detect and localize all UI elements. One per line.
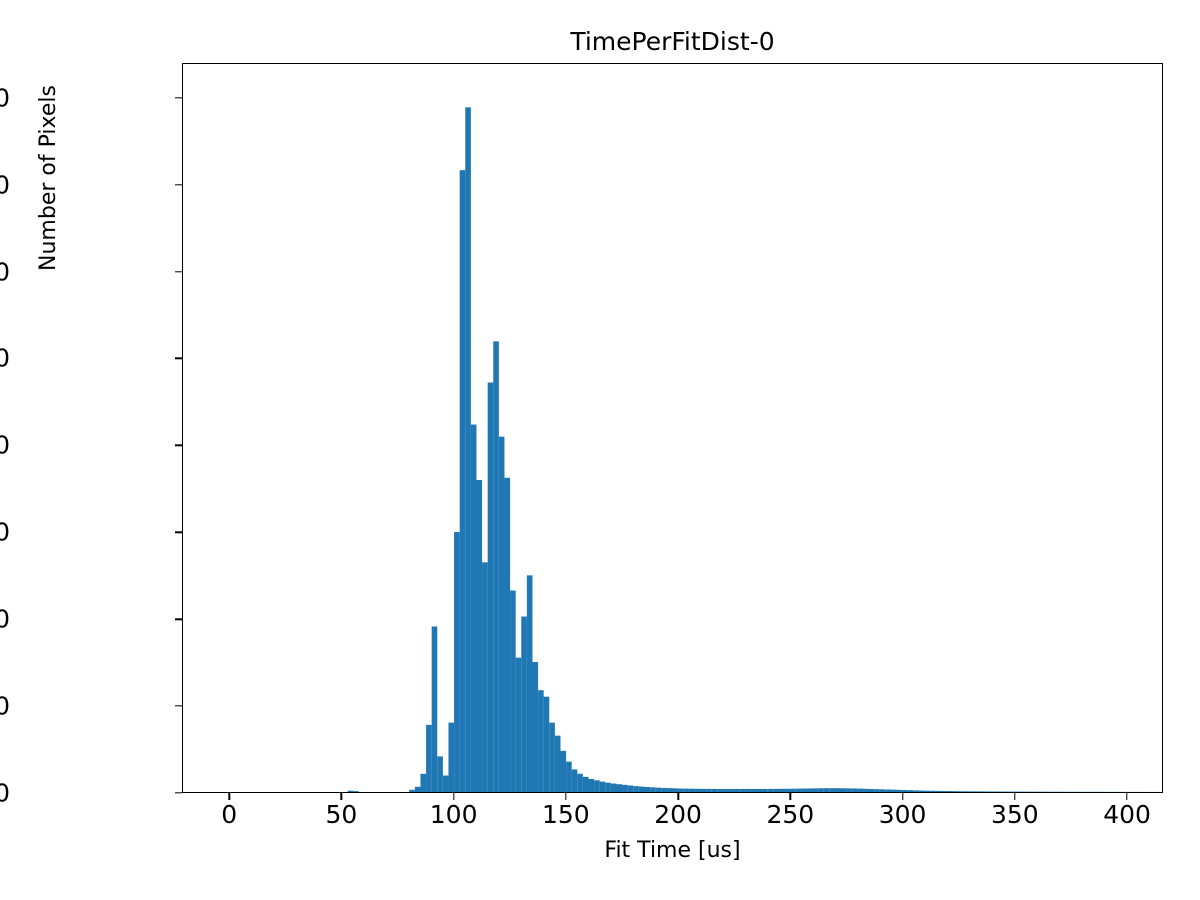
histogram-bar [762, 789, 768, 792]
x-tick-mark [1126, 793, 1127, 800]
histogram-bar [829, 788, 835, 792]
histogram-bar [869, 789, 875, 792]
x-tick-mark [1014, 793, 1015, 800]
histogram-bar [689, 789, 695, 792]
histogram-bar [891, 790, 897, 792]
histogram-bar [460, 170, 466, 792]
histogram-bar [560, 751, 566, 792]
x-tick-mark [228, 793, 229, 800]
histogram-bar [779, 789, 785, 792]
x-tick-label: 300 [879, 800, 927, 830]
y-tick-mark [175, 532, 182, 533]
histogram-bar [941, 791, 947, 792]
histogram-bar [880, 789, 886, 792]
histogram-bar [611, 784, 617, 792]
y-tick-label: 8000 [0, 433, 10, 458]
histogram-bar [673, 788, 679, 792]
histogram-bar [549, 723, 555, 792]
histogram-bar [857, 789, 863, 792]
histogram-bar [353, 791, 359, 792]
x-tick-mark [565, 793, 566, 800]
histogram-bar [925, 791, 931, 792]
histogram-bar [936, 791, 942, 792]
plot-area [182, 63, 1163, 793]
y-tick-mark [175, 184, 182, 185]
y-tick-mark [175, 705, 182, 706]
histogram-bar [824, 788, 830, 792]
histogram-bar [482, 562, 488, 792]
histogram-bar [919, 791, 925, 792]
histogram-bar [471, 425, 477, 792]
histogram-bar [846, 788, 852, 792]
histogram-bar [583, 777, 589, 792]
histogram-bar [432, 626, 438, 792]
y-tick-label: 4000 [0, 607, 10, 632]
histogram-bar [504, 478, 510, 792]
histogram-bar [712, 789, 718, 792]
histogram-bar [594, 780, 600, 792]
histogram-bar [527, 575, 533, 792]
histogram-bar [426, 725, 432, 792]
histogram-bar [969, 791, 975, 792]
histogram-bar [661, 788, 667, 792]
y-tick-label: 14000 [0, 172, 10, 197]
x-tick-label: 200 [654, 800, 702, 830]
histogram-bar [773, 789, 779, 792]
histogram-bar [729, 789, 735, 792]
histogram-bar [818, 788, 824, 792]
histogram-figure: TimePerFitDist-0 02000400060008000100001… [0, 0, 1200, 900]
histogram-bar [616, 784, 622, 792]
x-tick-mark [341, 793, 342, 800]
histogram-bar [532, 662, 538, 792]
histogram-bar [588, 779, 594, 792]
histogram-bar [600, 782, 606, 792]
histogram-bar [751, 789, 757, 792]
histogram-bar [745, 789, 751, 792]
histogram-bar [913, 790, 919, 792]
histogram-bar [723, 789, 729, 792]
histogram-bar [577, 774, 583, 792]
histogram-bar [667, 788, 673, 792]
histogram-bar [947, 791, 953, 792]
y-tick-mark [175, 618, 182, 619]
histogram-bar [544, 697, 550, 792]
histogram-bar [684, 789, 690, 792]
histogram-bar [885, 789, 891, 792]
histogram-bar [768, 789, 774, 792]
histogram-bar [516, 658, 522, 792]
histogram-bar [790, 789, 796, 792]
histogram-bar [813, 788, 819, 792]
x-tick-mark [902, 793, 903, 800]
histogram-bar [757, 789, 763, 792]
histogram-bar [566, 762, 572, 792]
x-tick-label: 50 [325, 800, 357, 830]
x-axis-label: Fit Time [us] [182, 838, 1163, 864]
histogram-bar [874, 789, 880, 792]
y-tick-mark [175, 271, 182, 272]
histogram-bar [678, 789, 684, 792]
y-tick-label: 12000 [0, 259, 10, 284]
histogram-bar [415, 787, 421, 792]
x-tick-label: 350 [991, 800, 1039, 830]
y-axis-label: Number of Pixels [36, 0, 62, 428]
histogram-bar [656, 788, 662, 792]
x-tick-label: 250 [766, 800, 814, 830]
histogram-bar [639, 787, 645, 792]
chart-title: TimePerFitDist-0 [182, 27, 1163, 57]
histogram-bar [902, 790, 908, 792]
histogram-bar [706, 789, 712, 792]
histogram-bar [835, 788, 841, 792]
x-tick-label: 100 [430, 800, 478, 830]
histogram-bar [622, 785, 628, 792]
x-tick-label: 150 [542, 800, 590, 830]
y-tick-mark [175, 792, 182, 793]
x-tick-mark [453, 793, 454, 800]
histogram-bar [958, 791, 964, 792]
histogram-bar [465, 107, 471, 792]
histogram-bar [986, 791, 992, 792]
histogram-bar [628, 785, 634, 792]
histogram-bar [852, 788, 858, 792]
histogram-bar [443, 776, 449, 792]
histogram-bar [863, 789, 869, 792]
histogram-bar [633, 786, 639, 792]
histogram-bar [448, 723, 454, 792]
histogram-bar [510, 591, 516, 792]
histogram-bar [734, 789, 740, 792]
histogram-bar [695, 789, 701, 792]
histogram-bar [930, 791, 936, 792]
x-tick-mark [677, 793, 678, 800]
x-tick-label: 400 [1103, 800, 1151, 830]
histogram-bar [437, 756, 443, 792]
histogram-bar [409, 790, 415, 792]
y-tick-mark [175, 445, 182, 446]
y-tick-label: 0 [0, 781, 10, 806]
histogram-bar [807, 788, 813, 792]
histogram-bar [499, 437, 505, 792]
histogram-bars [183, 64, 1162, 792]
histogram-bar [975, 791, 981, 792]
histogram-bar [908, 790, 914, 792]
histogram-bar [476, 480, 482, 792]
histogram-bar [897, 790, 903, 792]
histogram-bar [785, 789, 791, 792]
histogram-bar [801, 789, 807, 792]
histogram-bar [841, 788, 847, 792]
x-tick-label: 0 [221, 800, 237, 830]
histogram-bar [493, 341, 499, 792]
histogram-bar [953, 791, 959, 792]
histogram-bar [605, 783, 611, 792]
histogram-bar [521, 617, 527, 792]
histogram-bar [488, 383, 494, 792]
histogram-bar [572, 769, 578, 792]
histogram-bar [964, 791, 970, 792]
y-tick-label: 2000 [0, 694, 10, 719]
y-tick-label: 6000 [0, 520, 10, 545]
x-tick-mark [790, 793, 791, 800]
y-tick-mark [175, 97, 182, 98]
y-tick-mark [175, 358, 182, 359]
histogram-bar [701, 789, 707, 792]
histogram-bar [992, 791, 998, 792]
histogram-bar [454, 532, 460, 792]
histogram-bar [538, 690, 544, 792]
histogram-bar [555, 736, 561, 792]
histogram-bar [717, 789, 723, 792]
histogram-bar [348, 791, 354, 792]
histogram-bar [796, 789, 802, 792]
y-tick-label: 10000 [0, 346, 10, 371]
histogram-bar [650, 787, 656, 792]
histogram-bar [740, 789, 746, 792]
histogram-bar [420, 774, 426, 792]
histogram-bar [644, 787, 650, 792]
y-tick-label: 16000 [0, 85, 10, 110]
histogram-bar [981, 791, 987, 792]
